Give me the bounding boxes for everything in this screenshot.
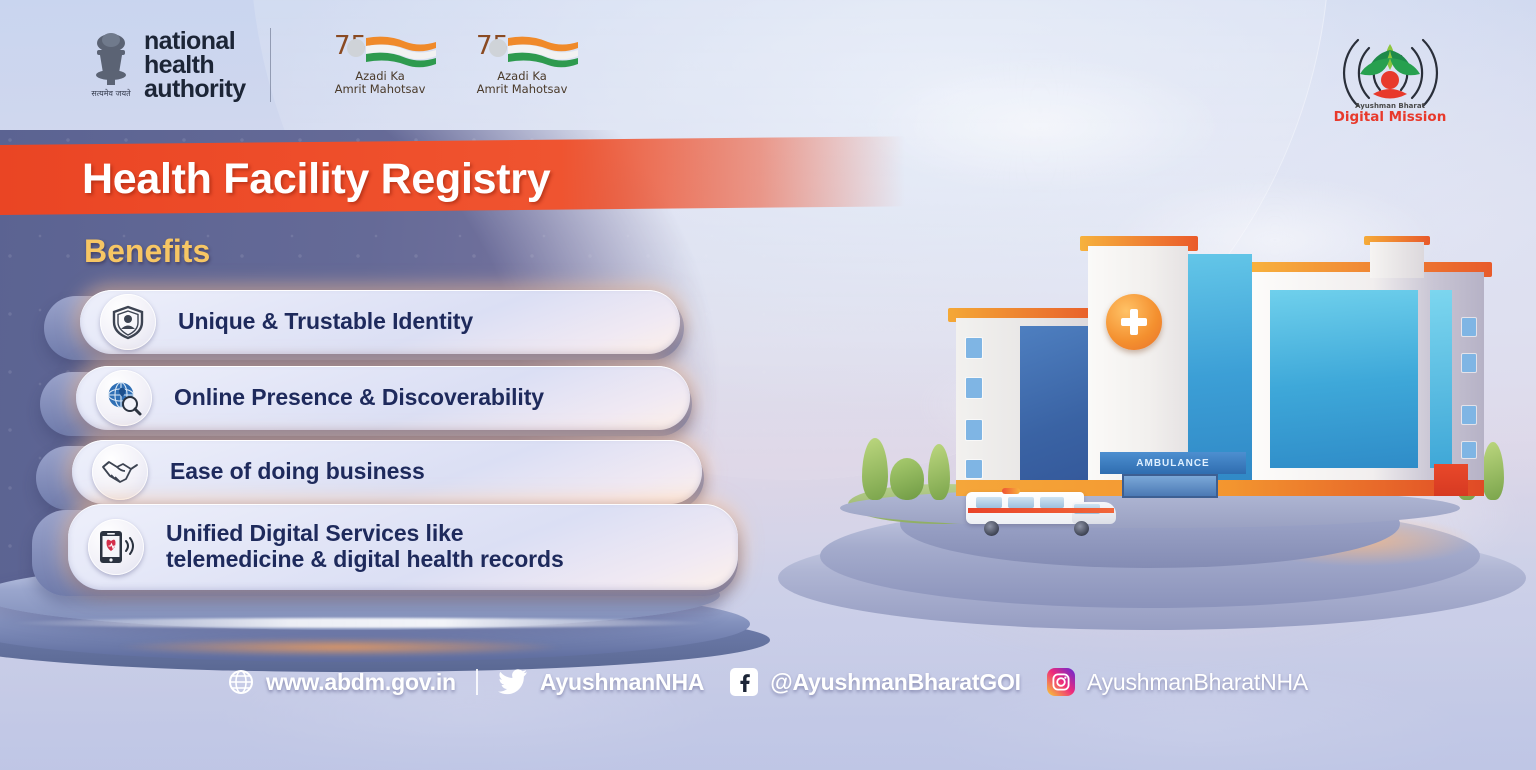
- building-base-accent: [1434, 464, 1468, 496]
- shield-person-icon: [100, 294, 156, 350]
- benefit-pill-3-label: Ease of doing business: [170, 459, 425, 485]
- page-title: Health Facility Registry: [82, 155, 882, 211]
- amrit-caption: Azadi Ka Amrit Mahotsav: [316, 70, 444, 96]
- ambulance-window: [1040, 497, 1064, 508]
- amrit-line-2: Amrit Mahotsav: [316, 83, 444, 96]
- benefit-label-line: telemedicine & digital health records: [166, 547, 564, 573]
- entrance-sign: AMBULANCE: [1100, 452, 1246, 474]
- nha-wordmark: national health authority: [144, 29, 246, 101]
- ambulance-light-bar: [1002, 488, 1020, 494]
- window: [966, 420, 982, 440]
- footer-facebook[interactable]: @AyushmanBharatGOI: [730, 668, 1021, 696]
- medical-cross-icon: [1106, 294, 1162, 350]
- logo-divider: [270, 28, 271, 102]
- ambulance-window: [976, 497, 1002, 508]
- national-health-authority-logo: सत्यमेव जयते national health authority: [88, 28, 285, 102]
- benefit-pill-1-label: Unique & Trustable Identity: [178, 309, 473, 335]
- benefit-pill-2[interactable]: Online Presence & Discoverability: [76, 366, 690, 430]
- window: [1462, 354, 1476, 372]
- footer-instagram[interactable]: AyushmanBharatNHA: [1047, 668, 1308, 696]
- benefit-pill-1[interactable]: Unique & Trustable Identity: [80, 290, 680, 354]
- twitter-icon: [498, 669, 528, 695]
- benefit-pill-4-label: Unified Digital Services like telemedici…: [166, 521, 564, 573]
- nha-line-3: authority: [144, 77, 246, 101]
- benefits-heading: Benefits: [84, 233, 210, 270]
- instagram-icon: [1047, 668, 1075, 696]
- handshake-icon: [92, 444, 148, 500]
- benefit-pill-2-label: Online Presence & Discoverability: [174, 385, 544, 411]
- window: [1462, 318, 1476, 336]
- nha-line-1: national: [144, 29, 246, 53]
- benefit-label-line: Unique & Trustable Identity: [178, 308, 473, 334]
- pedestal-warm-glow: [30, 634, 650, 660]
- window: [966, 338, 982, 358]
- abdm-main-text: Digital Mission: [1334, 109, 1447, 125]
- building-right-glass: [1270, 290, 1418, 468]
- building-left-glass: [1020, 326, 1088, 492]
- nha-line-2: health: [144, 53, 246, 77]
- tree: [862, 438, 888, 500]
- globe-icon: [228, 669, 254, 695]
- globe-search-icon: [96, 370, 152, 426]
- hospital-building-illustration: AMBULANCE: [770, 230, 1536, 630]
- footer-website[interactable]: www.abdm.gov.in: [228, 669, 456, 696]
- telemedicine-phone-icon: [88, 519, 144, 575]
- window: [966, 378, 982, 398]
- footer-social-bar: www.abdm.gov.in AyushmanNHA @AyushmanBha…: [0, 658, 1536, 706]
- ambulance-wheel: [1074, 521, 1089, 536]
- benefit-label-line: Unified Digital Services like: [166, 521, 564, 547]
- amrit-mark-icon: 75: [458, 28, 586, 70]
- amrit-line-1: Azadi Ka: [458, 70, 586, 83]
- benefit-pill-4[interactable]: Unified Digital Services like telemedici…: [68, 504, 738, 590]
- tree: [890, 458, 924, 500]
- footer-facebook-text: @AyushmanBharatGOI: [770, 669, 1021, 696]
- ambulance-stripe: [968, 508, 1114, 513]
- benefit-pill-3[interactable]: Ease of doing business: [72, 440, 702, 504]
- penthouse: [1370, 242, 1424, 278]
- ashoka-emblem-icon: सत्यमेव जयते: [88, 29, 134, 101]
- infographic-poster: सत्यमेव जयते national health authority 7…: [0, 0, 1536, 770]
- ambulance-window: [1008, 497, 1034, 508]
- benefit-label-line: Online Presence & Discoverability: [174, 384, 544, 410]
- header: सत्यमेव जयते national health authority 7…: [0, 0, 1536, 130]
- svg-text:सत्यमेव जयते: सत्यमेव जयते: [91, 88, 131, 98]
- building-right-glass-narrow: [1430, 290, 1452, 468]
- pedestal-rim-light: [10, 618, 710, 628]
- tree: [928, 444, 950, 500]
- ambulance-vehicle: [966, 488, 1116, 534]
- benefit-label-line: Ease of doing business: [170, 458, 425, 484]
- tree: [1482, 442, 1504, 500]
- azadi-ka-amrit-mahotsav-logo-1: 75 Azadi Ka Amrit Mahotsav: [316, 28, 444, 96]
- facebook-icon: [730, 668, 758, 696]
- amrit-line-1: Azadi Ka: [316, 70, 444, 83]
- ayushman-bharat-digital-mission-logo: Ayushman Bharat Digital Mission: [1303, 18, 1478, 128]
- footer-website-text: www.abdm.gov.in: [266, 669, 456, 696]
- ambulance-wheel: [984, 521, 999, 536]
- amrit-mark-icon: 75: [316, 28, 444, 70]
- footer-twitter[interactable]: AyushmanNHA: [498, 669, 704, 696]
- footer-divider: [476, 669, 478, 695]
- window: [1462, 406, 1476, 424]
- amrit-line-2: Amrit Mahotsav: [458, 83, 586, 96]
- azadi-ka-amrit-mahotsav-logo-2: 75 Azadi Ka Amrit Mahotsav: [458, 28, 586, 96]
- window: [1462, 442, 1476, 458]
- window: [966, 460, 982, 478]
- footer-twitter-text: AyushmanNHA: [540, 669, 704, 696]
- entrance-doors: [1122, 474, 1218, 498]
- footer-instagram-text: AyushmanBharatNHA: [1087, 669, 1308, 696]
- amrit-caption: Azadi Ka Amrit Mahotsav: [458, 70, 586, 96]
